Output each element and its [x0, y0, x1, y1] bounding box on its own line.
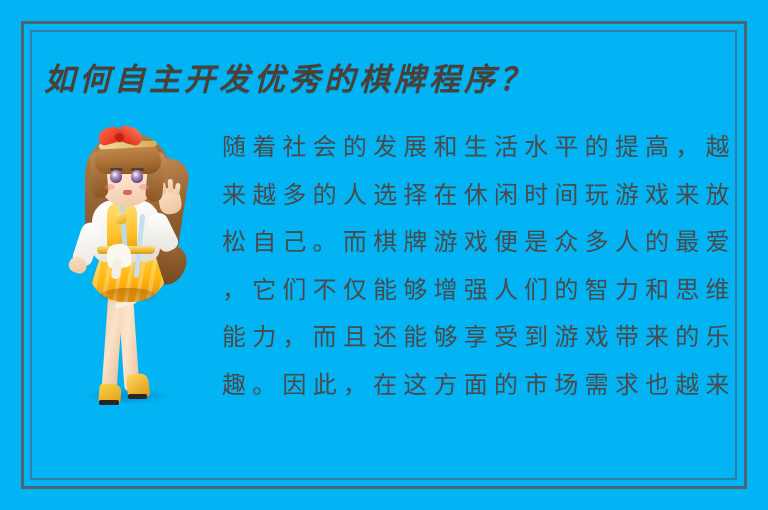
body-line-2: 来越多的人选择在休闲时间玩游戏来放: [222, 172, 730, 220]
blush-right: [139, 184, 149, 190]
body-line-3: 松自己。而棋牌游戏便是众多人的最爱: [222, 219, 730, 267]
body-line-1: 随着社会的发展和生活水平的提高，越: [222, 124, 730, 172]
mouth: [123, 190, 132, 195]
skirt-inner-shadow: [100, 288, 156, 304]
poster-canvas: 如何自主开发优秀的棋牌程序？ 随着社会的发展和生活水平的提高，越 来越多的人选择…: [0, 0, 768, 510]
body-line-6: 趣。因此，在这方面的市场需求也越来: [222, 362, 730, 410]
body-line-4: ，它们不仅能够增强人们的智力和思维: [222, 267, 730, 315]
page-title: 如何自主开发优秀的棋牌程序？: [44, 60, 644, 106]
shoe-left-heel: [99, 400, 119, 405]
pendant-charm: [115, 211, 127, 224]
eye-left: [110, 170, 122, 183]
body-text-block: 随着社会的发展和生活水平的提高，越 来越多的人选择在休闲时间玩游戏来放 松自己。…: [222, 124, 730, 409]
shoe-right-heel: [128, 394, 147, 399]
anime-girl-illustration: [55, 126, 197, 411]
body-line-5: 能力，而且还能够享受到游戏带来的乐: [222, 314, 730, 362]
eye-right: [131, 170, 143, 183]
red-bow-center-knot: [115, 133, 124, 142]
finger-right-2: [168, 179, 174, 193]
blush-left: [105, 184, 115, 190]
